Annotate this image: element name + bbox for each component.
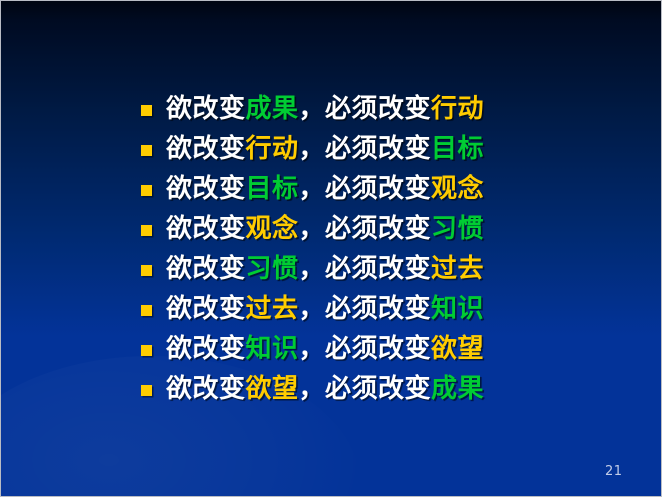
text-segment-white: 欲改变 [166,214,246,244]
text-segment-yellow: 过去 [431,254,484,284]
text-segment-yellow: 过去 [246,294,299,324]
bullet-item-text: 欲改变习惯，必须改变过去 [166,256,484,282]
square-bullet-icon [141,345,152,356]
text-segment-white: 欲改变 [166,174,246,204]
bullet-list-item: 欲改变行动，必须改变目标 [141,129,561,169]
text-segment-yellow: 欲望 [246,374,299,404]
text-segment-white: ，必须改变 [299,134,432,164]
text-segment-yellow: 行动 [246,134,299,164]
text-segment-green: 成果 [431,374,484,404]
text-segment-white: ，必须改变 [299,254,432,284]
bullet-list-item: 欲改变过去，必须改变知识 [141,289,561,329]
bullet-list-item: 欲改变习惯，必须改变过去 [141,249,561,289]
slide-content: 欲改变成果，必须改变行动欲改变行动，必须改变目标欲改变目标，必须改变观念欲改变观… [1,1,662,497]
text-segment-green: 知识 [431,294,484,324]
square-bullet-icon [141,185,152,196]
bullet-list-item: 欲改变欲望，必须改变成果 [141,369,561,409]
text-segment-white: ，必须改变 [299,334,432,364]
text-segment-green: 知识 [246,334,299,364]
square-bullet-icon [141,265,152,276]
text-segment-yellow: 观念 [431,174,484,204]
text-segment-yellow: 行动 [431,94,484,124]
bullet-list-item: 欲改变目标，必须改变观念 [141,169,561,209]
square-bullet-icon [141,145,152,156]
square-bullet-icon [141,225,152,236]
bullet-item-text: 欲改变观念，必须改变习惯 [166,216,484,242]
text-segment-white: ，必须改变 [299,94,432,124]
bullet-item-text: 欲改变成果，必须改变行动 [166,96,484,122]
text-segment-green: 目标 [246,174,299,204]
text-segment-white: 欲改变 [166,254,246,284]
text-segment-white: 欲改变 [166,334,246,364]
text-segment-white: ，必须改变 [299,374,432,404]
square-bullet-icon [141,305,152,316]
bullet-item-text: 欲改变过去，必须改变知识 [166,296,484,322]
text-segment-green: 成果 [246,94,299,124]
bullet-item-text: 欲改变知识，必须改变欲望 [166,336,484,362]
text-segment-white: ，必须改变 [299,174,432,204]
bullet-list-item: 欲改变知识，必须改变欲望 [141,329,561,369]
bullet-list-item: 欲改变成果，必须改变行动 [141,89,561,129]
square-bullet-icon [141,385,152,396]
text-segment-white: 欲改变 [166,374,246,404]
bullet-item-text: 欲改变目标，必须改变观念 [166,176,484,202]
bullet-item-text: 欲改变行动，必须改变目标 [166,136,484,162]
bullet-list: 欲改变成果，必须改变行动欲改变行动，必须改变目标欲改变目标，必须改变观念欲改变观… [141,89,561,409]
text-segment-white: ，必须改变 [299,294,432,324]
text-segment-green: 习惯 [246,254,299,284]
text-segment-yellow: 欲望 [431,334,484,364]
text-segment-green: 习惯 [431,214,484,244]
text-segment-yellow: 观念 [246,214,299,244]
square-bullet-icon [141,105,152,116]
text-segment-white: 欲改变 [166,94,246,124]
bullet-item-text: 欲改变欲望，必须改变成果 [166,376,484,402]
text-segment-green: 目标 [431,134,484,164]
text-segment-white: 欲改变 [166,294,246,324]
presentation-slide: 欲改变成果，必须改变行动欲改变行动，必须改变目标欲改变目标，必须改变观念欲改变观… [0,0,662,497]
slide-page-number: 21 [605,464,623,479]
text-segment-white: ，必须改变 [299,214,432,244]
text-segment-white: 欲改变 [166,134,246,164]
bullet-list-item: 欲改变观念，必须改变习惯 [141,209,561,249]
